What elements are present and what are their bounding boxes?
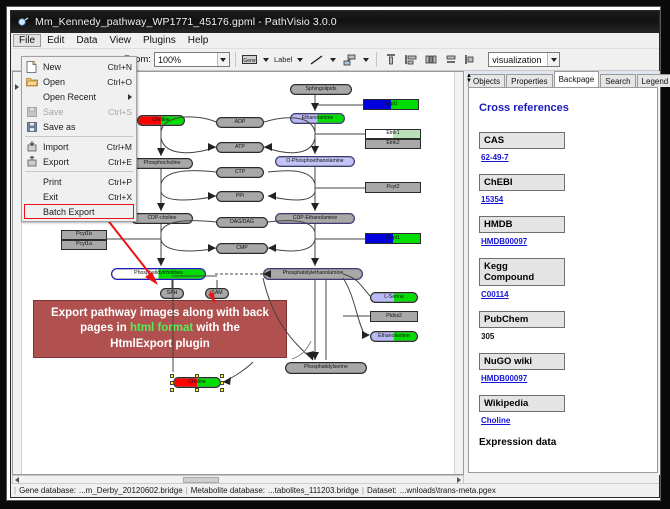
visualization-combo[interactable]: visualization (488, 52, 560, 67)
xref-link-nugo-wiki[interactable]: HMDB00097 (481, 374, 647, 383)
status-gene-db-value: ...m_Derby_20120602.bridge (79, 486, 183, 495)
status-dataset-label: Dataset: (367, 486, 397, 495)
xref-label-nugo-wiki: NuGO wiki (479, 353, 565, 370)
datanode-dropdown-icon[interactable] (261, 51, 271, 68)
line-tool-icon[interactable] (308, 51, 325, 68)
export-icon (24, 155, 39, 168)
menu-item-batch-export-label: Batch Export (39, 207, 136, 217)
visualization-value: visualization (492, 55, 547, 65)
menu-item-new[interactable]: New Ctrl+N (22, 59, 136, 74)
import-icon (24, 140, 39, 153)
menu-item-print-label: Print (39, 177, 108, 187)
node-ptdss2[interactable]: Ptdss2 (370, 311, 418, 322)
annotation-banner: Export pathway images along with back pa… (33, 300, 287, 358)
toolbar-separator-2 (376, 52, 377, 67)
node-o-phosphoethanolamine[interactable]: O-Phosphoethanolamine (275, 156, 355, 167)
tab-legend[interactable]: Legend (637, 74, 670, 87)
new-document-icon (24, 60, 39, 73)
menu-separator-2 (25, 171, 133, 172)
node-choline-selected[interactable]: Choline (173, 377, 221, 388)
xref-link-chebi[interactable]: 15354 (481, 195, 647, 204)
tab-overflow-icon[interactable]: ▲▼ (466, 71, 471, 87)
shape-dropdown-icon[interactable] (361, 51, 371, 68)
resize-handle-sw[interactable] (170, 388, 174, 392)
status-metabolite-db-value: ...tabolites_111203.bridge (268, 486, 359, 495)
menu-item-new-accel: Ctrl+N (108, 62, 136, 72)
visualization-chevron-down-icon[interactable] (547, 53, 559, 66)
tab-objects[interactable]: Objects (468, 74, 505, 87)
menu-item-open[interactable]: Open Ctrl+O (22, 74, 136, 89)
annotation-line-3: HtmlExport plugin (110, 338, 210, 350)
status-divider-2: | (362, 486, 364, 495)
xref-label-wikipedia: Wikipedia (479, 395, 565, 412)
menu-separator-1 (25, 136, 133, 137)
svg-text:Gene: Gene (243, 58, 255, 64)
menu-item-save-as-label: Save as (39, 122, 132, 132)
menu-item-exit-accel: Ctrl+X (108, 192, 136, 202)
datanode-tool-icon[interactable]: Gene (241, 51, 258, 68)
menu-item-import[interactable]: Import Ctrl+M (22, 139, 136, 154)
cross-references-heading: Cross references (479, 102, 647, 114)
node-sgpl1[interactable]: Sgpl1 (363, 99, 419, 110)
node-ethanolamine-2[interactable]: Ethanolamine (370, 331, 418, 342)
menu-item-export-accel: Ctrl+E (108, 157, 136, 167)
node-cept1[interactable]: Cept1 (365, 233, 421, 244)
status-divider-0: | (14, 486, 16, 495)
submenu-arrow-icon (128, 94, 132, 100)
menu-item-save-accel: Ctrl+S (108, 107, 136, 117)
screenshot-root: Mm_Kennedy_pathway_WP1771_45176.gpml - P… (0, 0, 670, 509)
menu-item-import-accel: Ctrl+M (107, 142, 136, 152)
side-panel: ▲▼ Objects Properties Backpage Search Le… (466, 71, 660, 475)
resize-handle-se[interactable] (220, 388, 224, 392)
pathvisio-app-icon (17, 16, 30, 29)
xref-link-cas[interactable]: 62-49-7 (481, 153, 647, 162)
xref-label-kegg-compound: Kegg Compound (479, 258, 565, 286)
status-bar: | Gene database: ...m_Derby_20120602.bri… (11, 483, 659, 497)
xref-label-cas: CAS (479, 132, 565, 149)
menu-item-open-recent[interactable]: Open Recent (22, 89, 136, 104)
save-as-icon (24, 120, 39, 133)
tab-backpage[interactable]: Backpage (554, 71, 600, 87)
toolbar-separator (235, 52, 236, 67)
menu-item-open-recent-label: Open Recent (39, 92, 128, 102)
resize-handle-w[interactable] (170, 381, 174, 385)
node-ppi[interactable]: PPi (216, 191, 264, 202)
status-dataset-value: ...wnloads\trans-meta.pgex (400, 486, 496, 495)
status-metabolite-db-label: Metabolite database: (191, 486, 265, 495)
annotation-line-2a: pages in (80, 322, 130, 334)
xref-value-pubchem: 305 (481, 332, 647, 341)
menu-item-exit-label: Exit (39, 192, 108, 202)
annotation-line-2b: with the (193, 322, 240, 334)
node-pcyt1b[interactable]: Pcyt1b (61, 230, 107, 240)
menu-item-save: Save Ctrl+S (22, 104, 136, 119)
same-height-icon[interactable] (462, 51, 479, 68)
menu-item-open-label: Open (39, 77, 107, 87)
annotation-highlight: html format (130, 322, 193, 334)
menu-item-save-as[interactable]: Save as (22, 119, 136, 134)
pathvisio-window: Mm_Kennedy_pathway_WP1771_45176.gpml - P… (10, 10, 660, 498)
xref-label-chebi: ChEBI (479, 174, 565, 191)
node-ctp[interactable]: CTP (216, 167, 264, 178)
menu-item-print[interactable]: Print Ctrl+P (22, 174, 136, 189)
menu-item-batch-export[interactable]: Batch Export (22, 204, 136, 219)
menu-item-exit[interactable]: Exit Ctrl+X (22, 189, 136, 204)
menu-help[interactable]: Help (182, 34, 215, 47)
node-adp[interactable]: ADP (216, 117, 264, 128)
node-atp[interactable]: ATP (216, 142, 264, 153)
label-tool-label: Label (274, 55, 292, 64)
resize-handle-e[interactable] (220, 381, 224, 385)
status-divider-1: | (186, 486, 188, 495)
menu-plugins[interactable]: Plugins (137, 34, 182, 47)
node-phosphatidylcholines[interactable]: Phosphatidylcholines (111, 268, 206, 280)
xref-link-hmdb[interactable]: HMDB00097 (481, 237, 647, 246)
menu-edit[interactable]: Edit (41, 34, 70, 47)
zoom-value: 100% (158, 55, 217, 65)
menu-item-print-accel: Ctrl+P (108, 177, 136, 187)
status-gene-db-label: Gene database: (19, 486, 76, 495)
resize-handle-n[interactable] (195, 374, 199, 378)
backpage-content: Cross references CAS 62-49-7 ChEBI 15354… (468, 87, 658, 473)
xref-label-pubchem: PubChem (479, 311, 565, 328)
menu-item-export-label: Export (39, 157, 108, 167)
blank-icon-3 (24, 190, 39, 203)
node-choline[interactable]: Choline (137, 115, 185, 126)
save-disk-icon (24, 105, 39, 118)
blank-icon-2 (24, 175, 39, 188)
menu-file[interactable]: File (13, 34, 41, 47)
tab-properties[interactable]: Properties (506, 74, 552, 87)
menu-item-new-label: New (39, 62, 108, 72)
expression-data-heading: Expression data (479, 437, 647, 448)
menu-item-import-label: Import (39, 142, 107, 152)
node-sah[interactable]: SAH (160, 288, 184, 299)
menu-data[interactable]: Data (70, 34, 103, 47)
menu-bar: File Edit Data View Plugins Help (11, 33, 659, 49)
distribute-horizontal-icon[interactable] (422, 51, 439, 68)
tab-search[interactable]: Search (600, 74, 635, 87)
xref-link-wikipedia[interactable]: Choline (481, 416, 647, 425)
node-etnk2[interactable]: Etnk2 (365, 139, 421, 149)
node-cdp-ethanolamine[interactable]: CDP-Ethanolamine (275, 213, 355, 224)
title-bar: Mm_Kennedy_pathway_WP1771_45176.gpml - P… (11, 11, 659, 33)
node-cmp[interactable]: CMP (216, 243, 268, 254)
node-dag[interactable]: DAG/DAG (216, 217, 268, 228)
node-pcyt2[interactable]: Pcyt2 (365, 182, 421, 193)
node-etnk1[interactable]: Etnk1 (365, 129, 421, 139)
label-dropdown-icon[interactable] (295, 51, 305, 68)
node-phosphocholine[interactable]: Phosphocholine (131, 158, 193, 169)
node-cdp-choline[interactable]: CDP-choline (131, 213, 193, 224)
align-top-icon[interactable] (382, 51, 399, 68)
zoom-combo[interactable]: 100% (154, 52, 230, 67)
node-pcyt1a[interactable]: Pcyt1a (61, 240, 107, 250)
chevron-down-icon[interactable] (217, 53, 229, 66)
xref-label-hmdb: HMDB (479, 216, 565, 233)
node-phosphatidylethanolamine[interactable]: Phosphatidylethanolamine (263, 268, 363, 280)
line-dropdown-icon[interactable] (328, 51, 338, 68)
node-phosphatidylserine[interactable]: Phosphatidylserine (285, 362, 367, 374)
selected-node-group[interactable]: Choline (173, 377, 221, 388)
same-width-icon[interactable] (442, 51, 459, 68)
open-folder-icon (24, 75, 39, 88)
menu-item-open-accel: Ctrl+O (107, 77, 136, 87)
menu-view[interactable]: View (103, 34, 137, 47)
blank-icon (24, 90, 39, 103)
file-menu-dropdown[interactable]: New Ctrl+N Open Ctrl+O Open Recent (21, 56, 137, 222)
xref-link-kegg-compound[interactable]: C00114 (481, 290, 647, 299)
menu-item-save-label: Save (39, 107, 108, 117)
window-title: Mm_Kennedy_pathway_WP1771_45176.gpml - P… (35, 16, 337, 28)
annotation-line-1: Export pathway images along with back (51, 307, 269, 319)
node-l-serine[interactable]: L-Serine (370, 292, 418, 303)
node-sam[interactable]: SAM (205, 288, 229, 299)
align-left-icon[interactable] (402, 51, 419, 68)
blank-icon-4 (24, 205, 39, 218)
node-ethanolamine[interactable]: Ethanolamine (290, 113, 345, 124)
side-panel-tabs: ▲▼ Objects Properties Backpage Search Le… (466, 71, 660, 87)
menu-item-export[interactable]: Export Ctrl+E (22, 154, 136, 169)
resize-handle-s[interactable] (195, 388, 199, 392)
resize-handle-ne[interactable] (220, 374, 224, 378)
node-sphingolipids[interactable]: Sphingolipids (290, 84, 352, 95)
shape-tool-icon[interactable] (341, 51, 358, 68)
resize-handle-nw[interactable] (170, 374, 174, 378)
